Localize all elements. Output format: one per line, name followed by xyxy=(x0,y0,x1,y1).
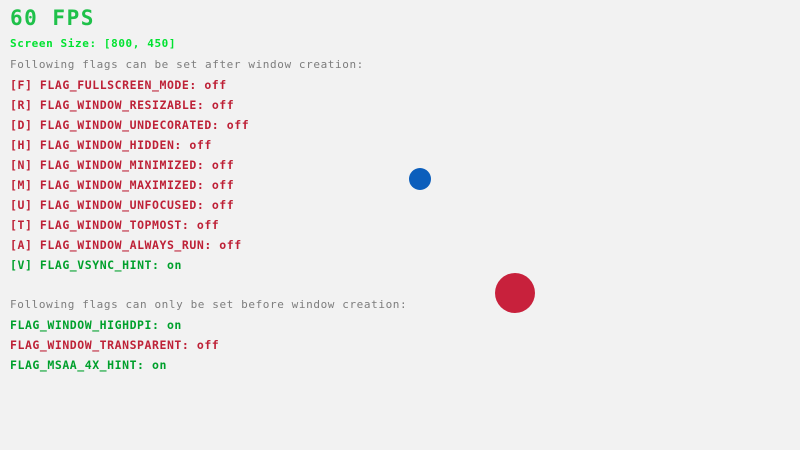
flag-name: FLAG_WINDOW_RESIZABLE: xyxy=(40,98,212,112)
flag-value: off xyxy=(189,138,211,152)
flag-row-flag-window-undecorated[interactable]: [D] FLAG_WINDOW_UNDECORATED: off xyxy=(10,118,249,132)
heading-flags-after-creation: Following flags can be set after window … xyxy=(10,58,364,71)
flag-row-flag-window-minimized[interactable]: [N] FLAG_WINDOW_MINIMIZED: off xyxy=(10,158,234,172)
flag-name: FLAG_WINDOW_HIGHDPI: xyxy=(10,318,167,332)
flag-key: [F] xyxy=(10,78,40,92)
flag-value: off xyxy=(227,118,249,132)
flag-name: FLAG_WINDOW_TOPMOST: xyxy=(40,218,197,232)
flag-name: FLAG_VSYNC_HINT: xyxy=(40,258,167,272)
flag-key: [U] xyxy=(10,198,40,212)
flag-row-flag-fullscreen-mode[interactable]: [F] FLAG_FULLSCREEN_MODE: off xyxy=(10,78,227,92)
flag-value: off xyxy=(212,178,234,192)
flag-name: FLAG_WINDOW_MAXIMIZED: xyxy=(40,178,212,192)
flag-value: off xyxy=(212,98,234,112)
flag-row-flag-window-highdpi[interactable]: FLAG_WINDOW_HIGHDPI: on xyxy=(10,318,182,332)
flag-key: [A] xyxy=(10,238,40,252)
flag-row-flag-window-always-run[interactable]: [A] FLAG_WINDOW_ALWAYS_RUN: off xyxy=(10,238,242,252)
flag-key: [N] xyxy=(10,158,40,172)
flag-key: [T] xyxy=(10,218,40,232)
flag-row-flag-msaa-4x-hint[interactable]: FLAG_MSAA_4X_HINT: on xyxy=(10,358,167,372)
flag-key: [R] xyxy=(10,98,40,112)
flag-row-flag-window-unfocused[interactable]: [U] FLAG_WINDOW_UNFOCUSED: off xyxy=(10,198,234,212)
flag-value: off xyxy=(219,238,241,252)
flag-row-flag-window-transparent[interactable]: FLAG_WINDOW_TRANSPARENT: off xyxy=(10,338,219,352)
flag-key: [D] xyxy=(10,118,40,132)
screen-size-label: Screen Size: [800, 450] xyxy=(10,37,176,50)
flag-key: [H] xyxy=(10,138,40,152)
flag-value: off xyxy=(197,218,219,232)
heading-flags-before-creation: Following flags can only be set before w… xyxy=(10,298,407,311)
flag-name: FLAG_WINDOW_ALWAYS_RUN: xyxy=(40,238,219,252)
flag-value: on xyxy=(167,318,182,332)
flag-value: on xyxy=(152,358,167,372)
flag-row-flag-window-topmost[interactable]: [T] FLAG_WINDOW_TOPMOST: off xyxy=(10,218,219,232)
flag-row-flag-window-maximized[interactable]: [M] FLAG_WINDOW_MAXIMIZED: off xyxy=(10,178,234,192)
flag-name: FLAG_WINDOW_UNFOCUSED: xyxy=(40,198,212,212)
flag-value: on xyxy=(167,258,182,272)
flag-row-flag-window-hidden[interactable]: [H] FLAG_WINDOW_HIDDEN: off xyxy=(10,138,212,152)
flag-row-flag-vsync-hint[interactable]: [V] FLAG_VSYNC_HINT: on xyxy=(10,258,182,272)
ball-red xyxy=(495,273,535,313)
flag-value: off xyxy=(212,198,234,212)
flag-name: FLAG_WINDOW_UNDECORATED: xyxy=(40,118,227,132)
ball-blue xyxy=(409,168,431,190)
flag-value: off xyxy=(204,78,226,92)
app-window: 60 FPS Screen Size: [800, 450] Following… xyxy=(0,0,800,450)
flag-name: FLAG_MSAA_4X_HINT: xyxy=(10,358,152,372)
flag-value: off xyxy=(197,338,219,352)
flag-key: [V] xyxy=(10,258,40,272)
flag-key: [M] xyxy=(10,178,40,192)
flag-name: FLAG_WINDOW_HIDDEN: xyxy=(40,138,189,152)
flag-value: off xyxy=(212,158,234,172)
flag-name: FLAG_WINDOW_MINIMIZED: xyxy=(40,158,212,172)
flag-name: FLAG_FULLSCREEN_MODE: xyxy=(40,78,204,92)
flag-name: FLAG_WINDOW_TRANSPARENT: xyxy=(10,338,197,352)
fps-counter: 60 FPS xyxy=(10,6,95,30)
flag-row-flag-window-resizable[interactable]: [R] FLAG_WINDOW_RESIZABLE: off xyxy=(10,98,234,112)
